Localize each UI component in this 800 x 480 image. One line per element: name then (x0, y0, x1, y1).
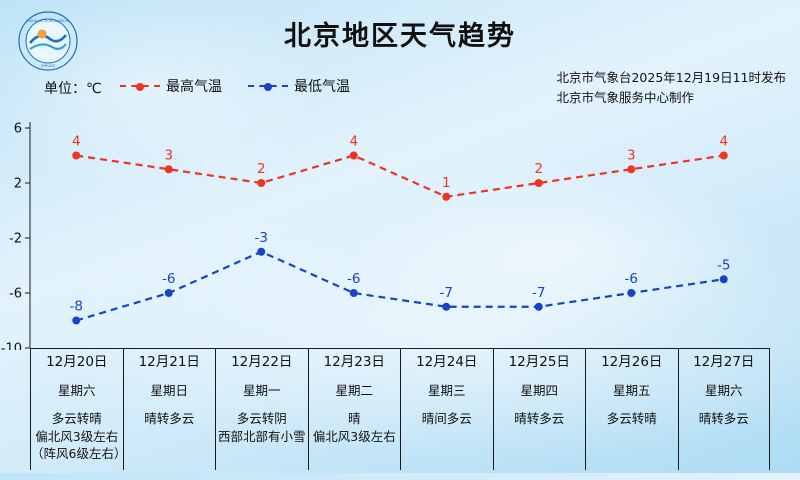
column-weekday: 星期六 (679, 383, 770, 398)
column-description: 晴转多云 (124, 411, 216, 426)
column-description: 多云转阴 (216, 411, 308, 426)
svg-text:-8: -8 (70, 299, 83, 315)
column-weekday: 星期日 (124, 383, 216, 398)
legend-label-low: 最低气温 (294, 76, 350, 96)
svg-text:SERVICE: SERVICE (41, 64, 55, 68)
page-title: 北京地区天气趋势 (0, 14, 800, 53)
column-description: 多云转晴 (31, 411, 123, 426)
column-weekday: 星期四 (494, 383, 586, 398)
svg-text:-6: -6 (625, 271, 638, 287)
legend-line-low (248, 85, 288, 87)
legend-item-high: 最高气温 (120, 76, 222, 96)
unit-label: 单位：℃ (44, 78, 102, 98)
svg-text:-6: -6 (9, 287, 22, 302)
column-date: 12月27日 (679, 355, 770, 370)
svg-text:2: 2 (14, 177, 22, 192)
forecast-column: 12月24日星期三晴间多云 (400, 348, 493, 470)
column-weekday: 星期六 (31, 383, 123, 398)
column-weekday: 星期二 (309, 383, 401, 398)
column-description: 晴间多云 (401, 411, 493, 426)
svg-text:-3: -3 (255, 230, 268, 246)
column-description: 晴转多云 (679, 411, 770, 426)
legend-dot-low (264, 83, 272, 91)
svg-text:-6: -6 (162, 271, 175, 287)
svg-text:4: 4 (72, 134, 81, 150)
forecast-table: 12月20日星期六多云转晴偏北风3级左右（阵风6级左右）12月21日星期日晴转多… (30, 348, 770, 470)
column-date: 12月23日 (309, 355, 401, 370)
column-wind-1: 偏北风3级左右 (309, 429, 401, 444)
column-wind-2: （阵风6级左右） (31, 446, 123, 461)
legend-label-high: 最高气温 (166, 76, 222, 96)
forecast-column: 12月22日星期一多云转阴西部北部有小雪 (215, 348, 308, 470)
forecast-column: 12月25日星期四晴转多云 (493, 348, 586, 470)
svg-text:-2: -2 (9, 232, 22, 247)
column-date: 12月24日 (401, 355, 493, 370)
svg-text:-10: -10 (1, 342, 22, 351)
column-weekday: 星期三 (401, 383, 493, 398)
column-description: 多云转晴 (586, 411, 678, 426)
issuer-line-2: 北京市气象服务中心制作 (556, 88, 786, 108)
legend-item-low: 最低气温 (248, 76, 350, 96)
column-wind-1: 西部北部有小雪 (216, 429, 308, 444)
forecast-column: 12月21日星期日晴转多云 (123, 348, 216, 470)
column-date: 12月25日 (494, 355, 586, 370)
column-date: 12月26日 (586, 355, 678, 370)
issuer-block: 北京市气象台2025年12月19日11时发布 北京市气象服务中心制作 (556, 68, 786, 108)
chart-legend: 最高气温 最低气温 (120, 76, 350, 96)
svg-text:-7: -7 (440, 285, 453, 301)
forecast-column: 12月20日星期六多云转晴偏北风3级左右（阵风6级左右） (30, 348, 123, 470)
svg-text:4: 4 (349, 134, 358, 150)
column-description: 晴转多云 (494, 411, 586, 426)
column-date: 12月22日 (216, 355, 308, 370)
legend-dot-high (136, 83, 144, 91)
issuer-line-1: 北京市气象台2025年12月19日11时发布 (556, 68, 786, 88)
svg-text:1: 1 (442, 175, 451, 191)
chart-svg: 62-2-6-1043241234-8-6-3-6-7-7-6-5 (0, 110, 800, 350)
forecast-column: 12月27日星期六晴转多云 (678, 348, 771, 470)
svg-text:3: 3 (164, 147, 173, 163)
svg-text:4: 4 (719, 134, 728, 150)
forecast-column: 12月23日星期二晴偏北风3级左右 (308, 348, 401, 470)
column-weekday: 星期一 (216, 383, 308, 398)
svg-text:-6: -6 (347, 271, 360, 287)
svg-text:6: 6 (14, 122, 22, 137)
column-date: 12月21日 (124, 355, 216, 370)
column-weekday: 星期五 (586, 383, 678, 398)
svg-text:2: 2 (257, 161, 266, 177)
svg-text:2: 2 (534, 161, 543, 177)
column-description: 晴 (309, 411, 401, 426)
legend-line-high (120, 85, 160, 87)
column-wind-1: 偏北风3级左右 (31, 429, 123, 444)
svg-text:-5: -5 (717, 257, 730, 273)
temperature-trend-chart: 62-2-6-1043241234-8-6-3-6-7-7-6-5 (0, 110, 800, 350)
svg-text:-7: -7 (532, 285, 545, 301)
column-date: 12月20日 (31, 355, 123, 370)
svg-text:3: 3 (627, 147, 636, 163)
forecast-column: 12月26日星期五多云转晴 (585, 348, 678, 470)
